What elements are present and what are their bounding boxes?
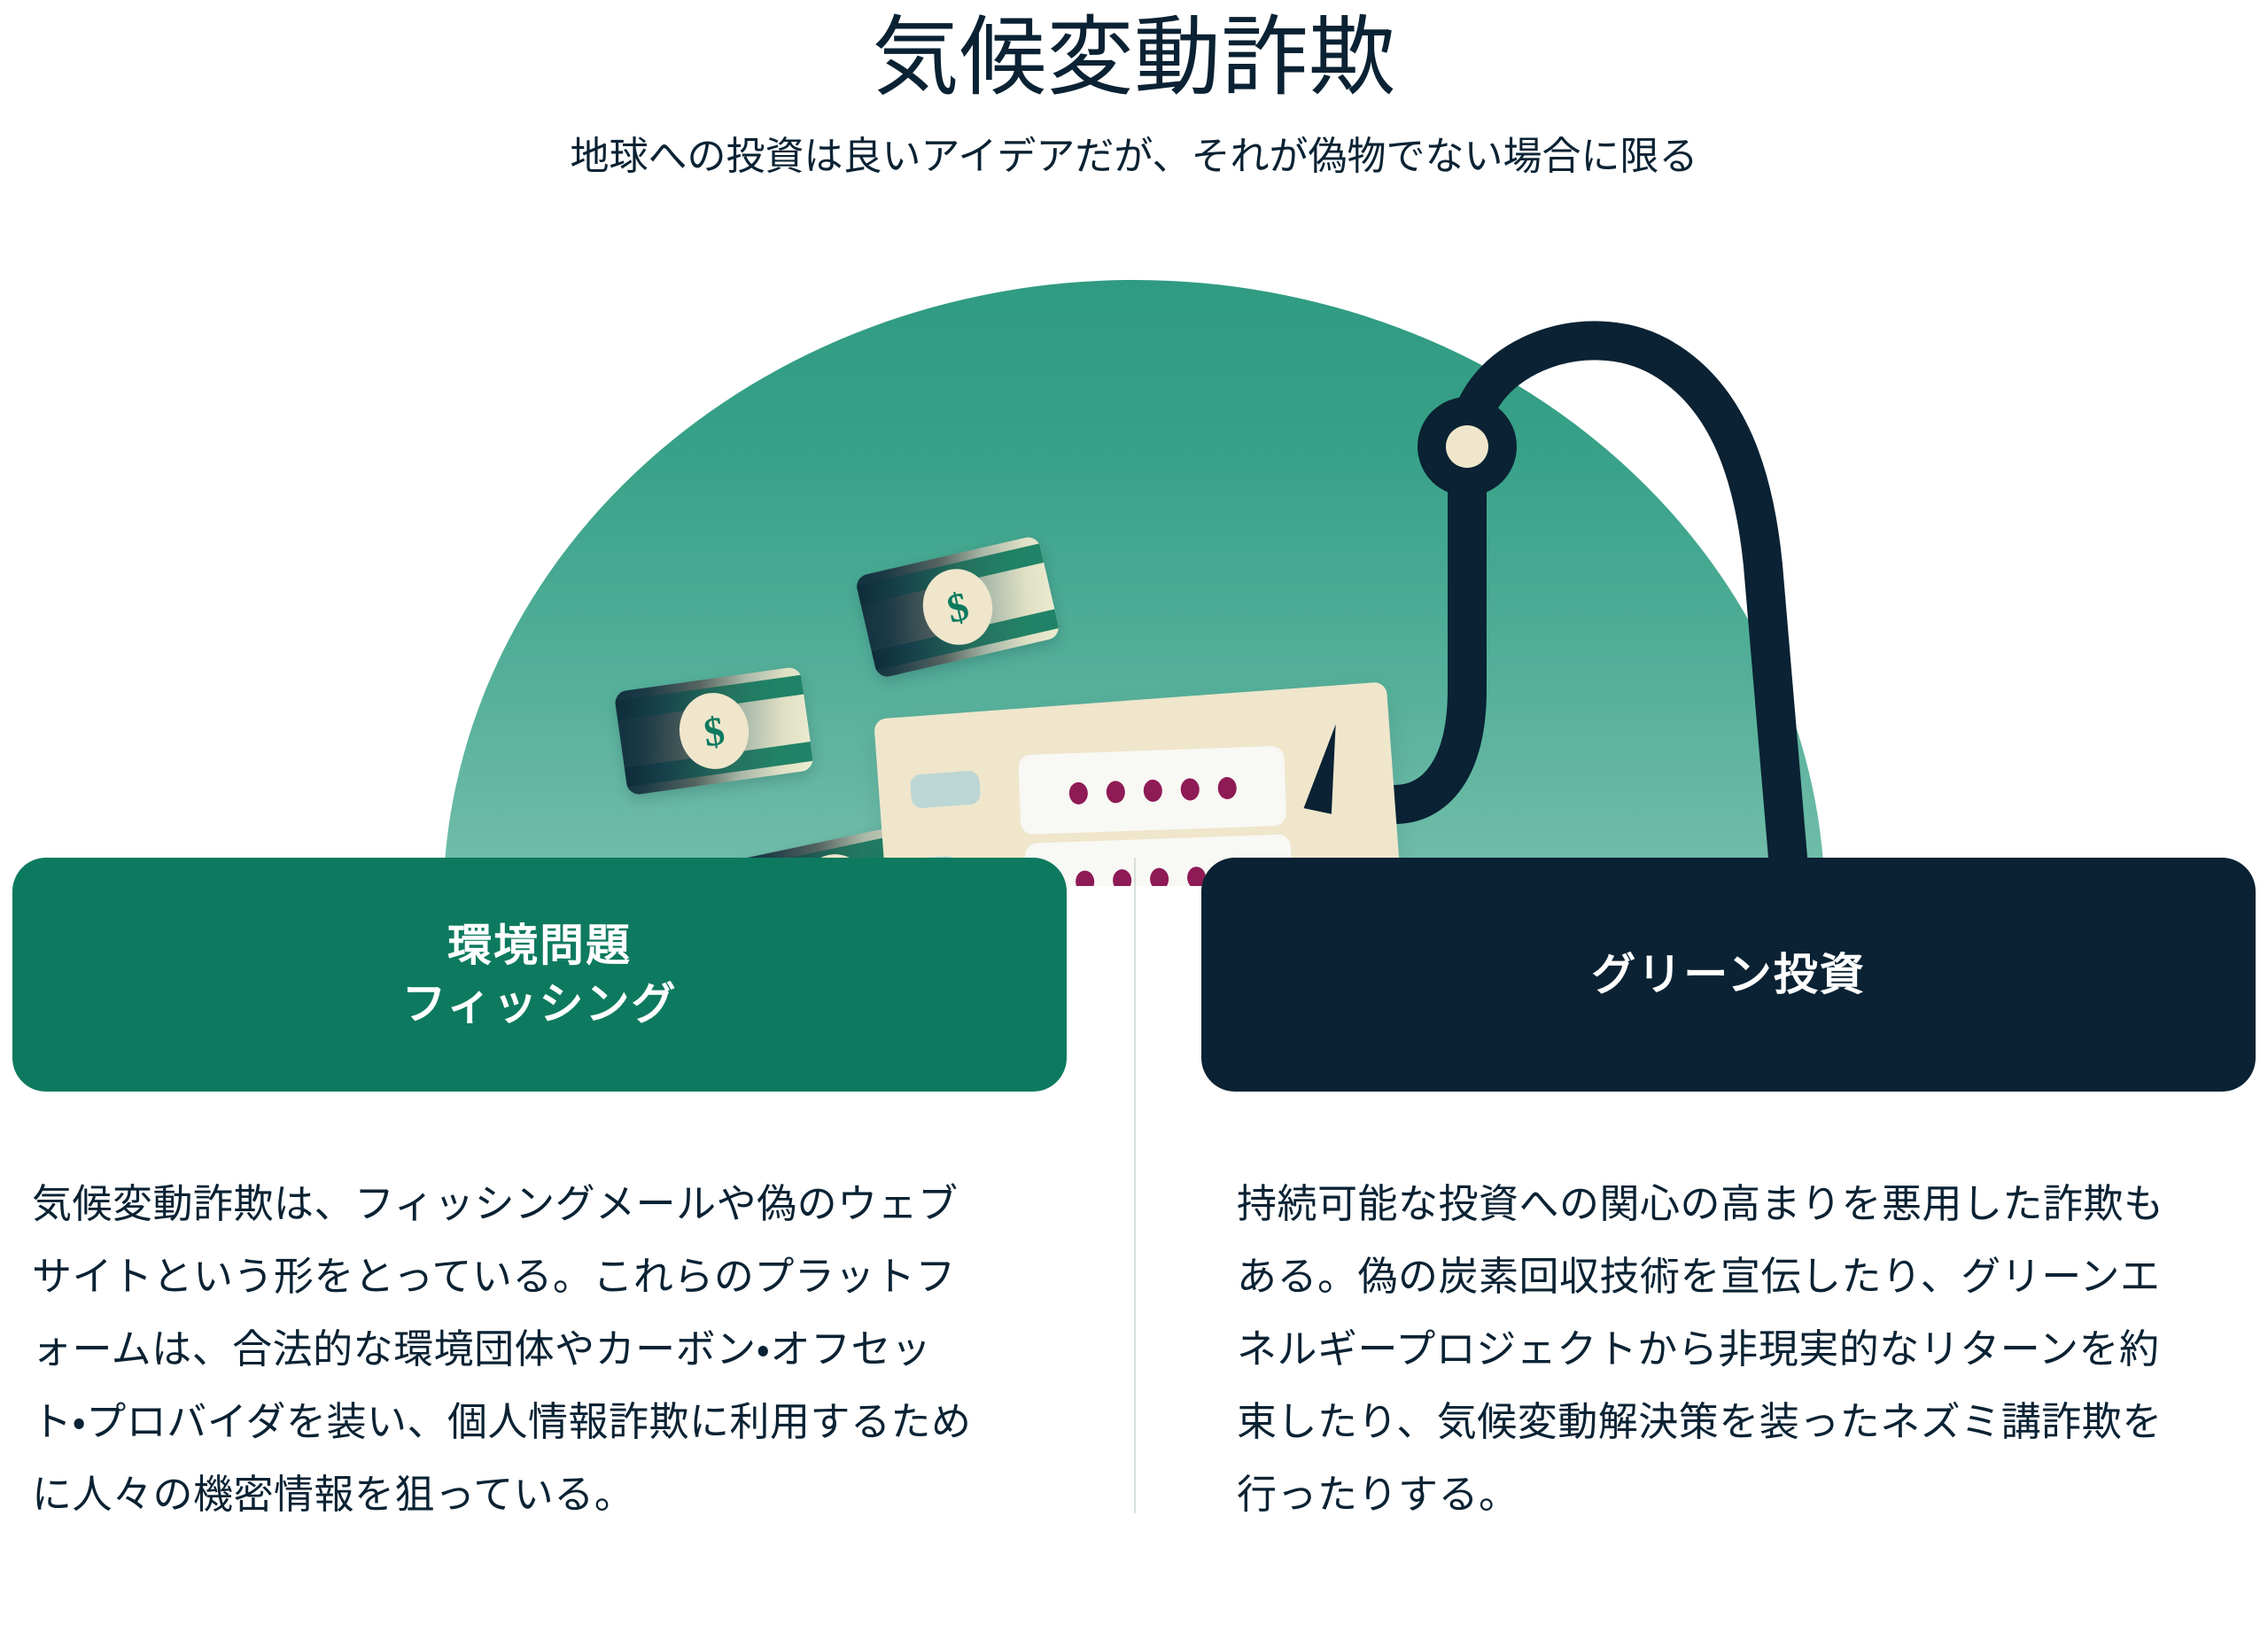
hook-barb-icon <box>1304 721 1350 813</box>
category-card-phishing[interactable]: 環境問題 フィッシング <box>12 858 1067 1092</box>
body-text-phishing: 気候変動詐欺は、フィッシングメールや偽のウェブサイトという形をとっている。これら… <box>32 1168 975 1530</box>
category-card-title: グリーン投資 <box>1591 945 1866 1004</box>
password-field-row[interactable] <box>1018 746 1286 835</box>
page-header: 気候変動詐欺 地球への投資は良いアイデアだが、それが偽物でない場合に限る <box>0 0 2268 182</box>
form-label-chip <box>910 770 982 809</box>
column-green-investment: グリーン投資 持続可能な投資への関心の高まりを悪用した詐欺もある。偽の炭素回収技… <box>1134 858 2268 1648</box>
password-dot-icon <box>1143 779 1162 802</box>
password-dot-icon <box>1180 778 1200 801</box>
password-dot-icon <box>1217 776 1237 799</box>
page-root: 気候変動詐欺 地球への投資は良いアイデアだが、それが偽物でない場合に限る $ $… <box>0 0 2268 1648</box>
body-text-green-investment: 持続可能な投資への関心の高まりを悪用した詐欺もある。偽の炭素回収技術を宣伝したり… <box>1237 1168 2179 1530</box>
password-dot-icon <box>1068 781 1088 805</box>
category-card-title: 環境問題 フィッシング <box>402 916 678 1033</box>
illustration-stage: $ $ $ <box>0 255 2268 886</box>
page-subtitle: 地球への投資は良いアイデアだが、それが偽物でない場合に限る <box>0 131 2268 182</box>
content-columns: 環境問題 フィッシング 気候変動詐欺は、フィッシングメールや偽のウェブサイトとい… <box>0 858 2268 1648</box>
page-title: 気候変動詐欺 <box>0 9 2268 106</box>
column-divider <box>1134 858 1136 1513</box>
column-phishing: 環境問題 フィッシング 気候変動詐欺は、フィッシングメールや偽のウェブサイトとい… <box>0 858 1134 1648</box>
category-card-green-investment[interactable]: グリーン投資 <box>1201 858 2256 1092</box>
password-dot-icon <box>1106 781 1125 804</box>
